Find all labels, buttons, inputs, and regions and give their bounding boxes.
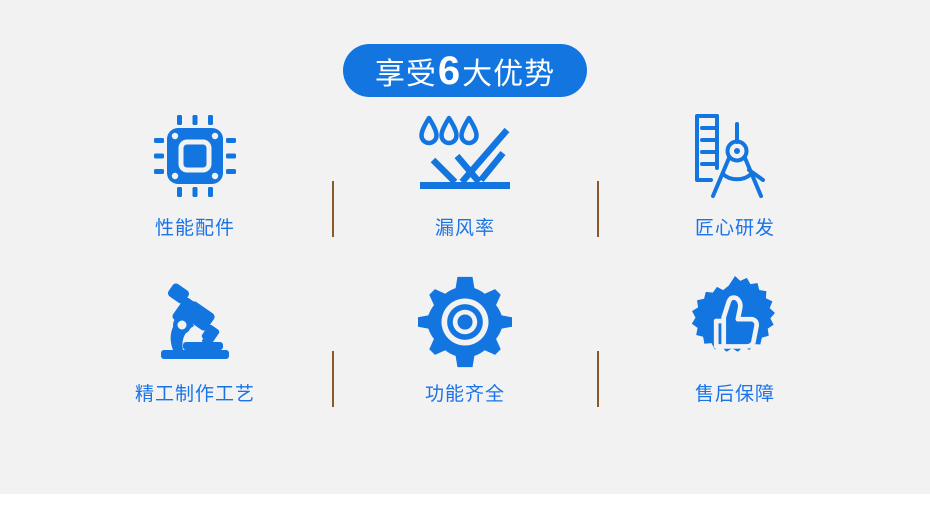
divider-col2-row1 <box>597 181 599 237</box>
water-repellent-surface-icon <box>413 108 517 204</box>
divider-col1-row1 <box>332 181 334 237</box>
title-number: 6 <box>437 51 462 91</box>
feature-label: 漏风率 <box>435 218 495 241</box>
feature-label: 售后保障 <box>695 384 775 407</box>
title-suffix: 大优势 <box>462 60 555 90</box>
feature-item-after-sales[interactable]: 售后保障 <box>600 274 870 440</box>
feature-label: 功能齐全 <box>425 384 505 407</box>
feature-grid: 性能配件 <box>60 108 870 448</box>
feature-item-full-features[interactable]: 功能齐全 <box>330 274 600 440</box>
thumbs-up-badge-icon <box>683 274 787 370</box>
microscope-icon <box>143 274 247 370</box>
feature-item-air-leakage[interactable]: 漏风率 <box>330 108 600 274</box>
divider-col2-row2 <box>597 351 599 407</box>
feature-item-performance-parts[interactable]: 性能配件 <box>60 108 330 274</box>
feature-item-rnd[interactable]: 匠心研发 <box>600 108 870 274</box>
feature-label: 性能配件 <box>155 218 235 241</box>
title-text: 享受6大优势 <box>375 51 555 91</box>
feature-label: 匠心研发 <box>695 218 775 241</box>
title-banner: 享受6大优势 <box>343 44 587 97</box>
promo-poster: 享受6大优势 <box>0 0 930 519</box>
cpu-chip-icon <box>143 108 247 204</box>
title-prefix: 享受 <box>375 60 437 90</box>
divider-col1-row2 <box>332 351 334 407</box>
feature-item-craftsmanship[interactable]: 精工制作工艺 <box>60 274 330 440</box>
ruler-compass-icon <box>683 108 787 204</box>
feature-label: 精工制作工艺 <box>135 384 255 407</box>
gear-icon <box>413 274 517 370</box>
